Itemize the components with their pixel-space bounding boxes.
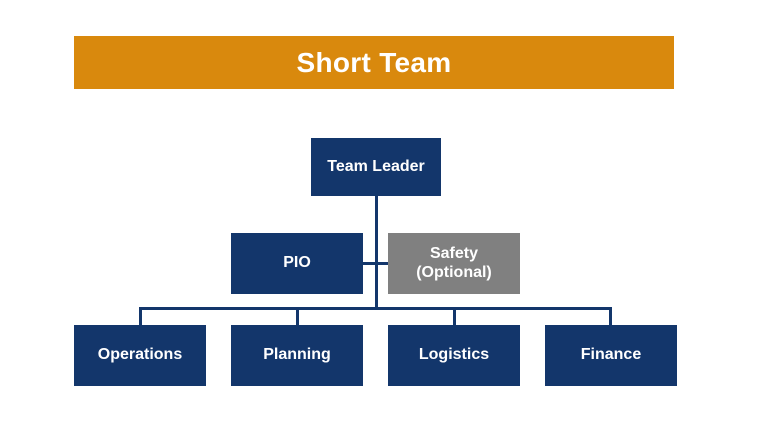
page-title: Short Team [297,49,452,77]
org-node-planning-label: Planning [263,346,331,364]
org-node-pio-label: PIO [283,254,311,272]
org-node-operations-label: Operations [98,346,182,364]
org-node-safety-label: Safety (Optional) [416,245,492,282]
connector-team-leader-spine [375,196,378,310]
org-node-finance-label: Finance [581,346,641,364]
org-node-team-leader[interactable]: Team Leader [311,138,441,196]
org-node-finance[interactable]: Finance [545,325,677,386]
connector-drop-planning [296,307,299,325]
org-node-team-leader-label: Team Leader [327,158,425,176]
connector-section-bus [139,307,612,310]
org-node-logistics[interactable]: Logistics [388,325,520,386]
org-node-safety[interactable]: Safety (Optional) [388,233,520,294]
connector-drop-operations [139,307,142,325]
title-banner: Short Team [74,36,674,89]
org-node-pio[interactable]: PIO [231,233,363,294]
org-node-planning[interactable]: Planning [231,325,363,386]
org-node-operations[interactable]: Operations [74,325,206,386]
connector-drop-finance [609,307,612,325]
connector-pio-safety [363,262,388,265]
org-chart-slide: Short Team Team Leader PIO Safety (Optio… [0,0,768,426]
connector-drop-logistics [453,307,456,325]
org-node-logistics-label: Logistics [419,346,489,364]
